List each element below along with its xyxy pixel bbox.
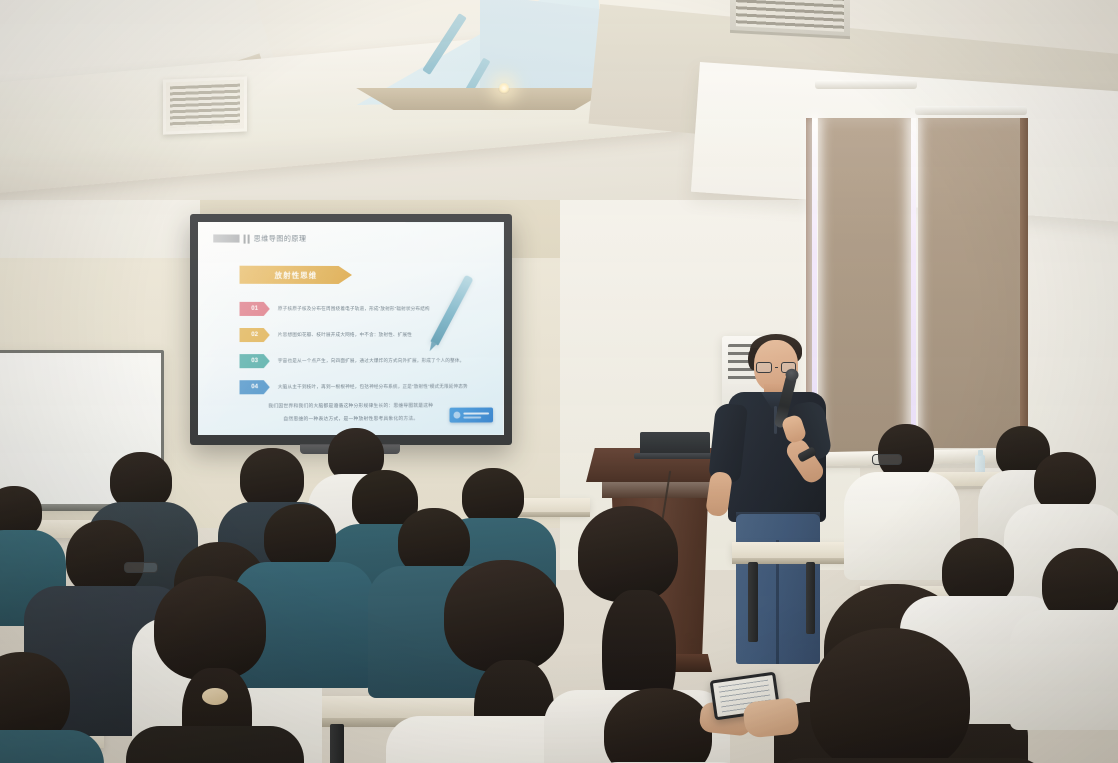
podium-neck (602, 482, 716, 498)
window-frame-right (1020, 118, 1028, 444)
presenter (706, 330, 846, 670)
vent-grille (170, 84, 240, 128)
presentation-display[interactable]: 思维导图的原理 放射性思维 01 原子核原子核及分布在周围绕着电子轨道，形成“放… (190, 214, 512, 445)
attendee-head (578, 506, 678, 602)
slide-logo-badge (450, 408, 494, 423)
slide-row-1-number: 01 (240, 302, 270, 316)
title-bars-icon (244, 234, 250, 243)
ac-louvers (736, 0, 844, 32)
slide-row-2-text: 片思想图如花瓣、枝叶展开成大网络，中不含：放射性、扩展性 (278, 332, 412, 338)
attendee-head (66, 520, 144, 596)
glasses-lens-left (756, 362, 772, 373)
attendee-shirt (126, 726, 304, 763)
attendee-shirt (1010, 610, 1118, 730)
slide-row-2-number: 02 (240, 328, 270, 342)
slide-row-1-text: 原子核原子核及分布在周围绕着电子轨道，形成“放射形”辐射状分布结构 (278, 306, 430, 312)
slide-content: 思维导图的原理 放射性思维 01 原子核原子核及分布在周围绕着电子轨道，形成“放… (198, 222, 503, 435)
slide-title: 思维导图的原理 (254, 234, 307, 244)
hair-scrunchie-icon (202, 688, 228, 705)
window-light-leak-2 (911, 118, 916, 458)
blind-rail-1 (815, 80, 917, 89)
slide-banner: 放射性思维 (240, 266, 352, 284)
attendee-head (154, 576, 266, 680)
slide-banner-label: 放射性思维 (275, 269, 318, 280)
slide-row-1: 01 原子核原子核及分布在周围绕着电子轨道，形成“放射形”辐射状分布结构 (240, 302, 430, 316)
logo-text-bars (463, 412, 489, 418)
attendee-head (604, 688, 712, 763)
attendee-shirt (0, 730, 104, 763)
slide-row-2: 02 片思想图如花瓣、枝叶展开成大网络，中不含：放射性、扩展性 (240, 328, 413, 342)
attendee-head (444, 560, 564, 672)
attendee-glasses-icon (124, 562, 158, 573)
title-accent-block (213, 234, 239, 242)
display-screen-area: 思维导图的原理 放射性思维 01 原子核原子核及分布在周围绕着电子轨道，形成“放… (198, 222, 504, 435)
roller-blind-2[interactable] (918, 118, 1024, 448)
slide-title-row: 思维导图的原理 (213, 233, 306, 243)
attendee-glasses-icon (872, 454, 902, 465)
slide-row-3-text: 宇宙也是从一个点产生，向四面扩展，通过大爆炸的方式向外扩展，形成了个人的整体。 (278, 358, 465, 364)
ceiling-downlight-icon (498, 82, 510, 94)
pen-illustration-icon (430, 275, 473, 346)
slide-row-4-text: 大脑从主干到枝叶，再到一根根神经，包括神经分布系统，正是“放射性”模式无限延伸态… (278, 384, 468, 390)
slide-row-4: 04 大脑从主干到枝叶，再到一根根神经，包括神经分布系统，正是“放射性”模式无限… (240, 380, 468, 395)
slide-row-3-number: 03 (240, 354, 270, 368)
desk-leg-front-left (330, 724, 344, 763)
attendee-head (1034, 452, 1096, 512)
ceiling-air-vent-icon (163, 76, 247, 134)
blind-rail-2 (915, 106, 1027, 115)
attendee-right-hand (742, 697, 799, 738)
glasses-bridge (775, 367, 778, 368)
slide-row-4-number: 04 (240, 380, 270, 394)
slide-row-3: 03 宇宙也是从一个点产生，向四面扩展，通过大爆炸的方式向外扩展，形成了个人的整… (240, 354, 465, 368)
attendee-head (810, 628, 970, 763)
desk-leg-mid-right-1 (748, 562, 758, 642)
desk-leg-mid-right-2 (806, 562, 815, 634)
attendee-head (240, 448, 304, 510)
ceiling-ac-unit-icon (730, 0, 850, 39)
logo-mark-icon (453, 412, 460, 419)
classroom-photo-scene: 思维导图的原理 放射性思维 01 原子核原子核及分布在周围绕着电子轨道，形成“放… (0, 0, 1118, 763)
laptop-icon[interactable] (640, 432, 710, 454)
attendee-shirt (770, 758, 1050, 763)
